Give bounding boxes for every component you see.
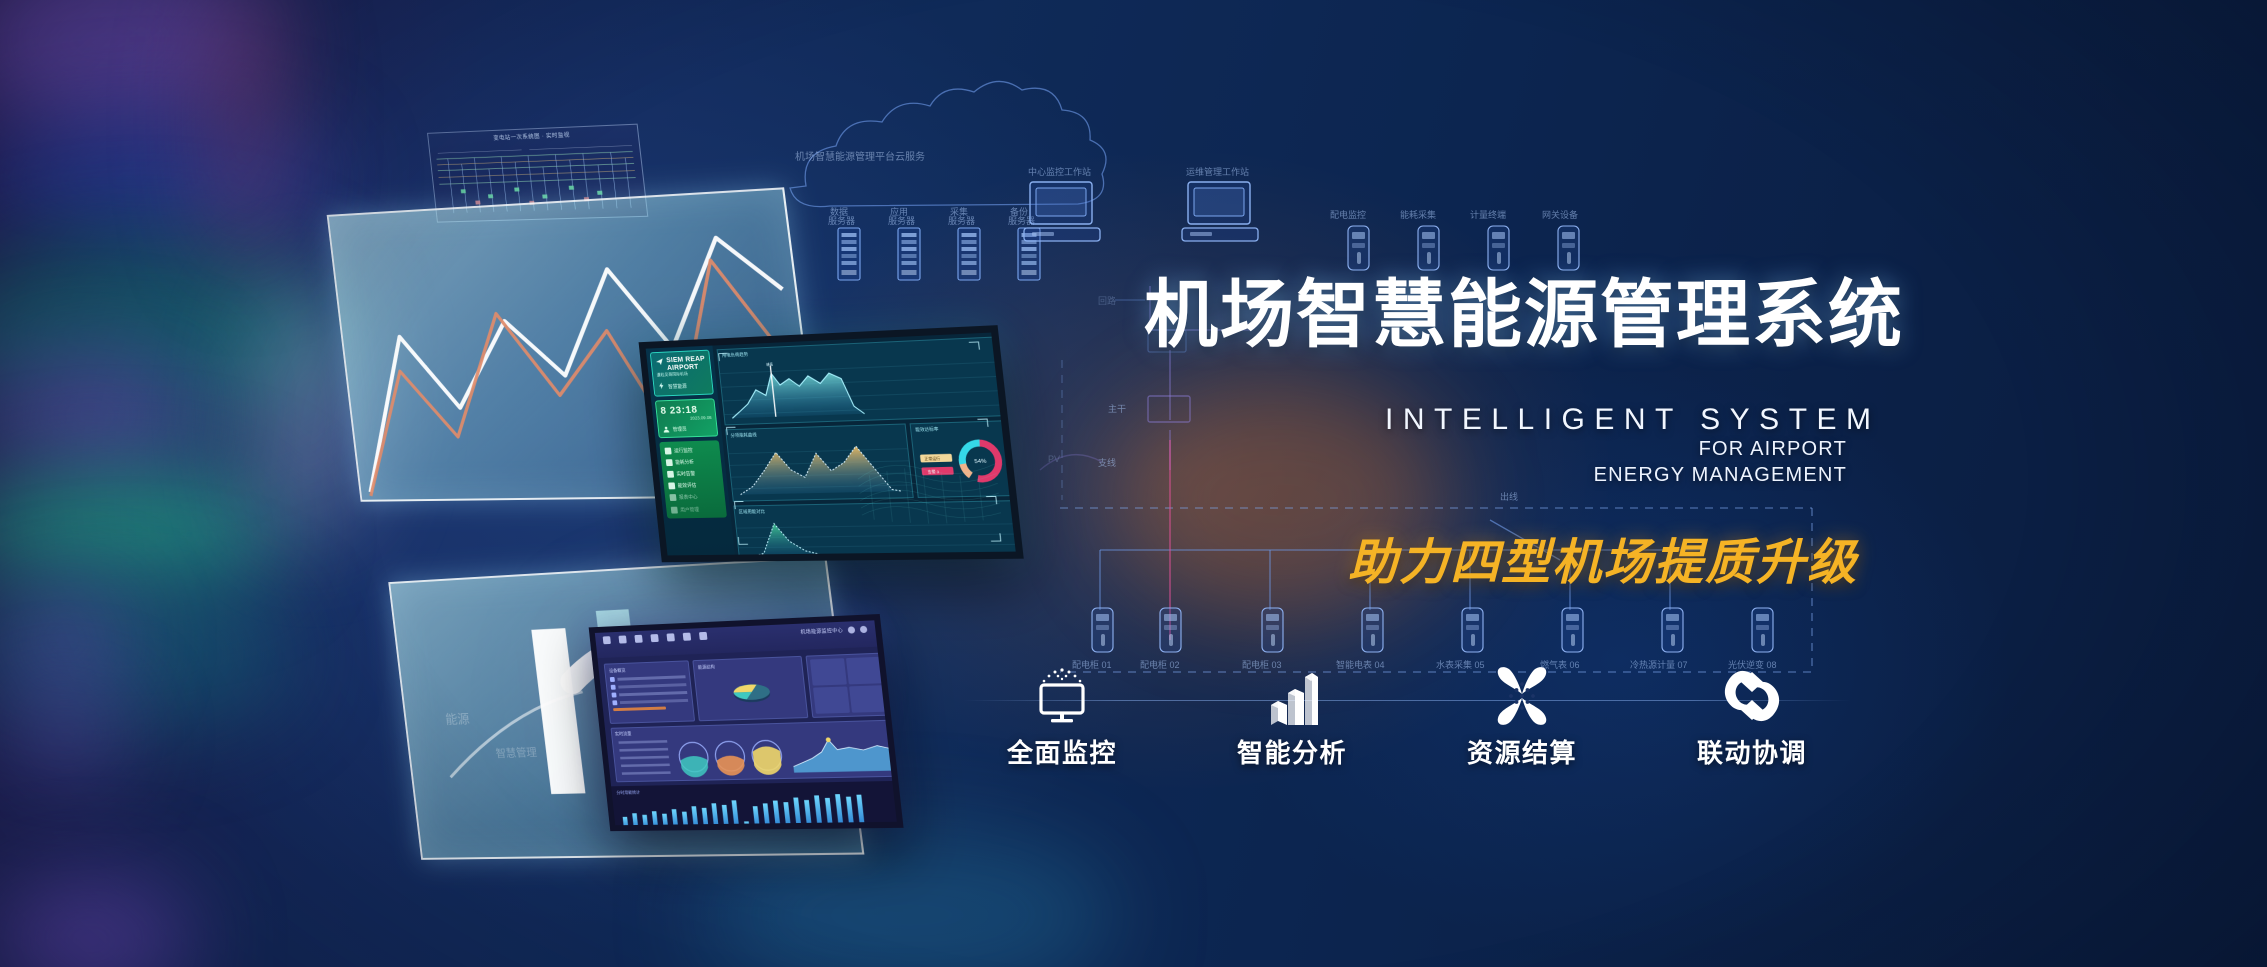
bokeh-teal-lower [0,580,290,730]
left-kv-list [618,740,670,775]
load-trend-chart: 峰值 [719,350,1005,423]
nav-icon-6[interactable] [699,632,708,640]
user-row[interactable]: 管理员 [662,424,713,433]
liquid-gauge-group [678,740,784,777]
monitor-signal-icon [1031,665,1093,727]
subtitle-english: INTELLIGENT SYSTEM [1385,403,1881,437]
svg-text:支线: 支线 [1098,457,1116,468]
svg-text:主干: 主干 [1108,403,1126,414]
network-topology-blueprint: .bp { fill:none; stroke:#6e9ae8; stroke-… [0,0,2267,967]
energy-bolt-icon [658,382,666,390]
menu-label-1: 能耗分析 [675,458,694,465]
card-item-energy[interactable]: 分项能耗曲线 [725,423,914,501]
main-dashboard-monitor[interactable]: SIEM REAP AIRPORT 暹粒吴哥国际机场 智慧能源 8 23:18 … [639,325,1024,562]
bokeh-violet-dot1 [10,600,120,680]
feature-item-coordination[interactable]: 联动协调 [1652,665,1852,770]
svg-text:服务器: 服务器 [828,215,855,226]
bokeh-violet-mid [0,350,200,480]
feature-list: 全面监控 智能分析 [962,665,1852,795]
menu-item-4[interactable]: 报表中心 [666,491,723,504]
slogan-text: 助力四型机场提质升级 [1348,523,1858,594]
nav-icon-3[interactable] [650,634,658,642]
svg-text:采集: 采集 [950,206,968,217]
list-bullet-icon [610,677,615,682]
list-bullet-icon [611,685,616,690]
svg-text:能耗采集: 能耗采集 [1400,209,1436,220]
banner-root: .bp { fill:none; stroke:#6e9ae8; stroke-… [0,0,2267,967]
home-icon [664,447,671,454]
cloud-label: 机场智慧能源管理平台云服务 [795,150,925,163]
bokeh-pink-stripe [210,0,280,270]
highlight-bar [613,707,666,712]
kpi-cell-3 [849,685,886,712]
feature-item-monitoring[interactable]: 全面监控 [962,665,1162,770]
nav-icon-2[interactable] [634,635,642,643]
svg-text:峰值: 峰值 [766,361,774,366]
terminal-workstations: 中心监控工作站 运维管理工作站 [1024,166,1258,241]
kpi-cell-1 [846,657,883,685]
menu-item-5[interactable]: 用户管理 [668,503,725,516]
svg-text:应用: 应用 [890,206,908,217]
bar-chart-3d-icon [1263,665,1321,727]
monitor-menu[interactable]: 运行监控 能耗分析 实时告警 能效评估 报表中心 用户管理 [659,440,727,518]
subtitle-for-airport: FOR AIRPORT [1699,438,1847,461]
card-efficiency-donut[interactable]: 能效达标率 54% 正常运行 告警 3 [910,420,1016,498]
monitor-content: 用电负荷趋势 峰值 [712,333,1015,555]
svg-text:计量终端: 计量终端 [1470,209,1506,220]
lower-panel-bars[interactable]: 分时用能统计 [611,781,897,825]
nav-icon-0[interactable] [603,636,611,644]
brand-cn: 智慧能源 [668,383,687,391]
bokeh-violet-top [0,0,260,140]
svg-text:PV: PV [1048,454,1060,464]
subtitle-energy-mgmt: ENERGY MANAGEMENT [1594,464,1847,487]
svg-text:服务器: 服务器 [888,215,915,226]
bokeh-blue-band [0,120,330,240]
nav-icon-5[interactable] [683,633,691,641]
svg-text:备份: 备份 [1010,206,1028,217]
flow-area-chart [790,736,892,773]
card-load-trend[interactable]: 用电负荷趋势 峰值 [717,336,1007,425]
upper-cabinet-row: 配电监控 能耗采集 计量终端 网关设备 [1330,209,1579,270]
avatar-icon[interactable] [860,626,868,633]
tag-normal-label: 正常运行 [924,456,941,462]
svg-text:能源: 能源 [445,712,470,727]
menu-label-4: 报表中心 [679,494,698,501]
gauge-icon [668,483,675,490]
bokeh-violet-dot2 [10,700,120,770]
item-energy-chart [727,437,912,499]
page-title: 机场智慧能源管理系统 [1144,278,1904,352]
flow-and-gauges [612,730,896,782]
svg-text:数据: 数据 [830,206,848,217]
plane-icon [655,357,664,366]
brand-sub: 暹粒吴哥国际机场 [657,370,708,378]
svg-text:服务器: 服务器 [1008,215,1035,226]
lower-header-title: 机场能源监控中心 [800,627,843,636]
clock-card: 8 23:18 2023.09.08 管理员 [655,398,718,438]
foreground-vignette [0,0,2267,967]
cloud-servers: 数据服务器 应用服务器 采集服务器 备份服务器 [828,206,1040,280]
region-compare-chart [736,513,1022,559]
bokeh-violet-bot [0,880,190,967]
menu-label-0: 运行监控 [674,447,693,454]
feature-item-analysis[interactable]: 智能分析 [1192,665,1392,770]
svg-text:54%: 54% [974,459,987,466]
bokeh-green-bright [0,470,280,590]
user-name: 管理员 [672,425,687,432]
svg-text:回路: 回路 [1098,295,1116,306]
svg-text:网关设备: 网关设备 [1542,209,1578,220]
nav-icon-1[interactable] [618,635,626,643]
bell-icon[interactable] [848,626,856,633]
card-region-compare[interactable]: 区域用能对比 [733,500,1022,560]
feature-label-monitoring: 全面监控 [1007,733,1117,770]
feature-item-settlement[interactable]: 资源结算 [1422,665,1622,770]
lower-panel-kpis[interactable] [805,653,891,718]
efficiency-donut-chart: 54% 正常运行 告警 3 [912,431,1015,494]
feature-label-coordination: 联动协调 [1697,733,1807,770]
lower-panel-device-title: 设备概览 [609,665,685,674]
report-icon [669,495,676,502]
analytics-icon [666,459,673,466]
nav-icon-4[interactable] [666,633,674,641]
alert-icon [667,471,674,478]
hourly-bar-chart [617,793,892,829]
user-icon [662,425,670,433]
kpi-cell-2 [813,686,850,713]
secondary-dashboard-monitor[interactable]: 机场能源监控中心 设备概览 [589,614,904,831]
svg-text:运维管理工作站: 运维管理工作站 [1186,166,1249,177]
svg-text:服务器: 服务器 [948,215,975,226]
airport-brand-card: SIEM REAP AIRPORT 暹粒吴哥国际机场 智慧能源 [650,350,714,397]
energy-pie-chart [722,669,805,716]
svg-text:出线: 出线 [1500,491,1518,502]
svg-text:智慧管理: 智慧管理 [495,746,538,760]
tag-alert-label: 告警 3 [927,469,939,474]
link-coordination-icon [1721,665,1783,727]
menu-label-5: 用户管理 [680,506,699,513]
lower-panel-flow[interactable]: 实时流量 [611,720,898,783]
kpi-cell-0 [810,658,847,685]
lower-panel-device[interactable]: 设备概览 [604,660,695,724]
bokeh-teal-large [0,240,340,430]
lower-panel-structure[interactable]: 能源结构 [692,656,808,721]
svg-text:配电监控: 配电监控 [1330,209,1366,220]
lower-monitor-header: 机场能源监控中心 [595,620,877,658]
menu-label-2: 实时告警 [676,470,695,477]
list-bullet-icon [611,693,616,698]
feature-label-settlement: 资源结算 [1467,733,1577,770]
list-bullet-icon [612,700,617,705]
menu-label-3: 能效评估 [677,482,696,489]
resource-nodes-icon [1492,665,1552,727]
feature-label-analysis: 智能分析 [1237,733,1347,770]
settings-icon [671,506,678,513]
svg-text:中心监控工作站: 中心监控工作站 [1028,166,1091,177]
